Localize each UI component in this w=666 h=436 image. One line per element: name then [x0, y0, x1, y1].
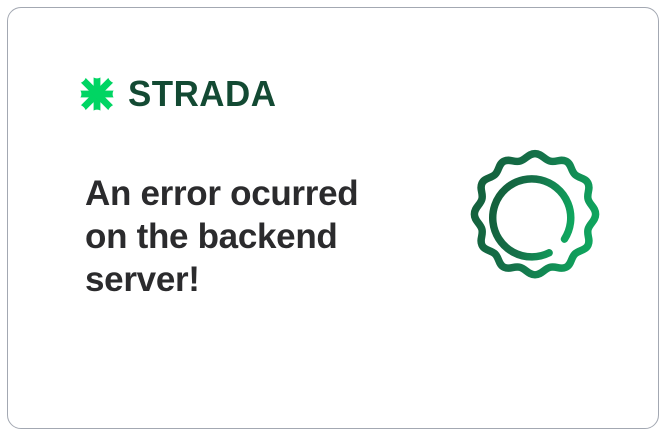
- brand-wordmark: STRADA: [128, 76, 276, 112]
- brand-lockup: STRADA: [77, 74, 281, 114]
- error-message: An error ocurred on the backend server!: [85, 172, 385, 301]
- error-card: STRADA An error ocurred on the backend s…: [7, 7, 659, 429]
- gear-cog-icon: [452, 142, 618, 308]
- strada-starburst-icon: [77, 74, 117, 114]
